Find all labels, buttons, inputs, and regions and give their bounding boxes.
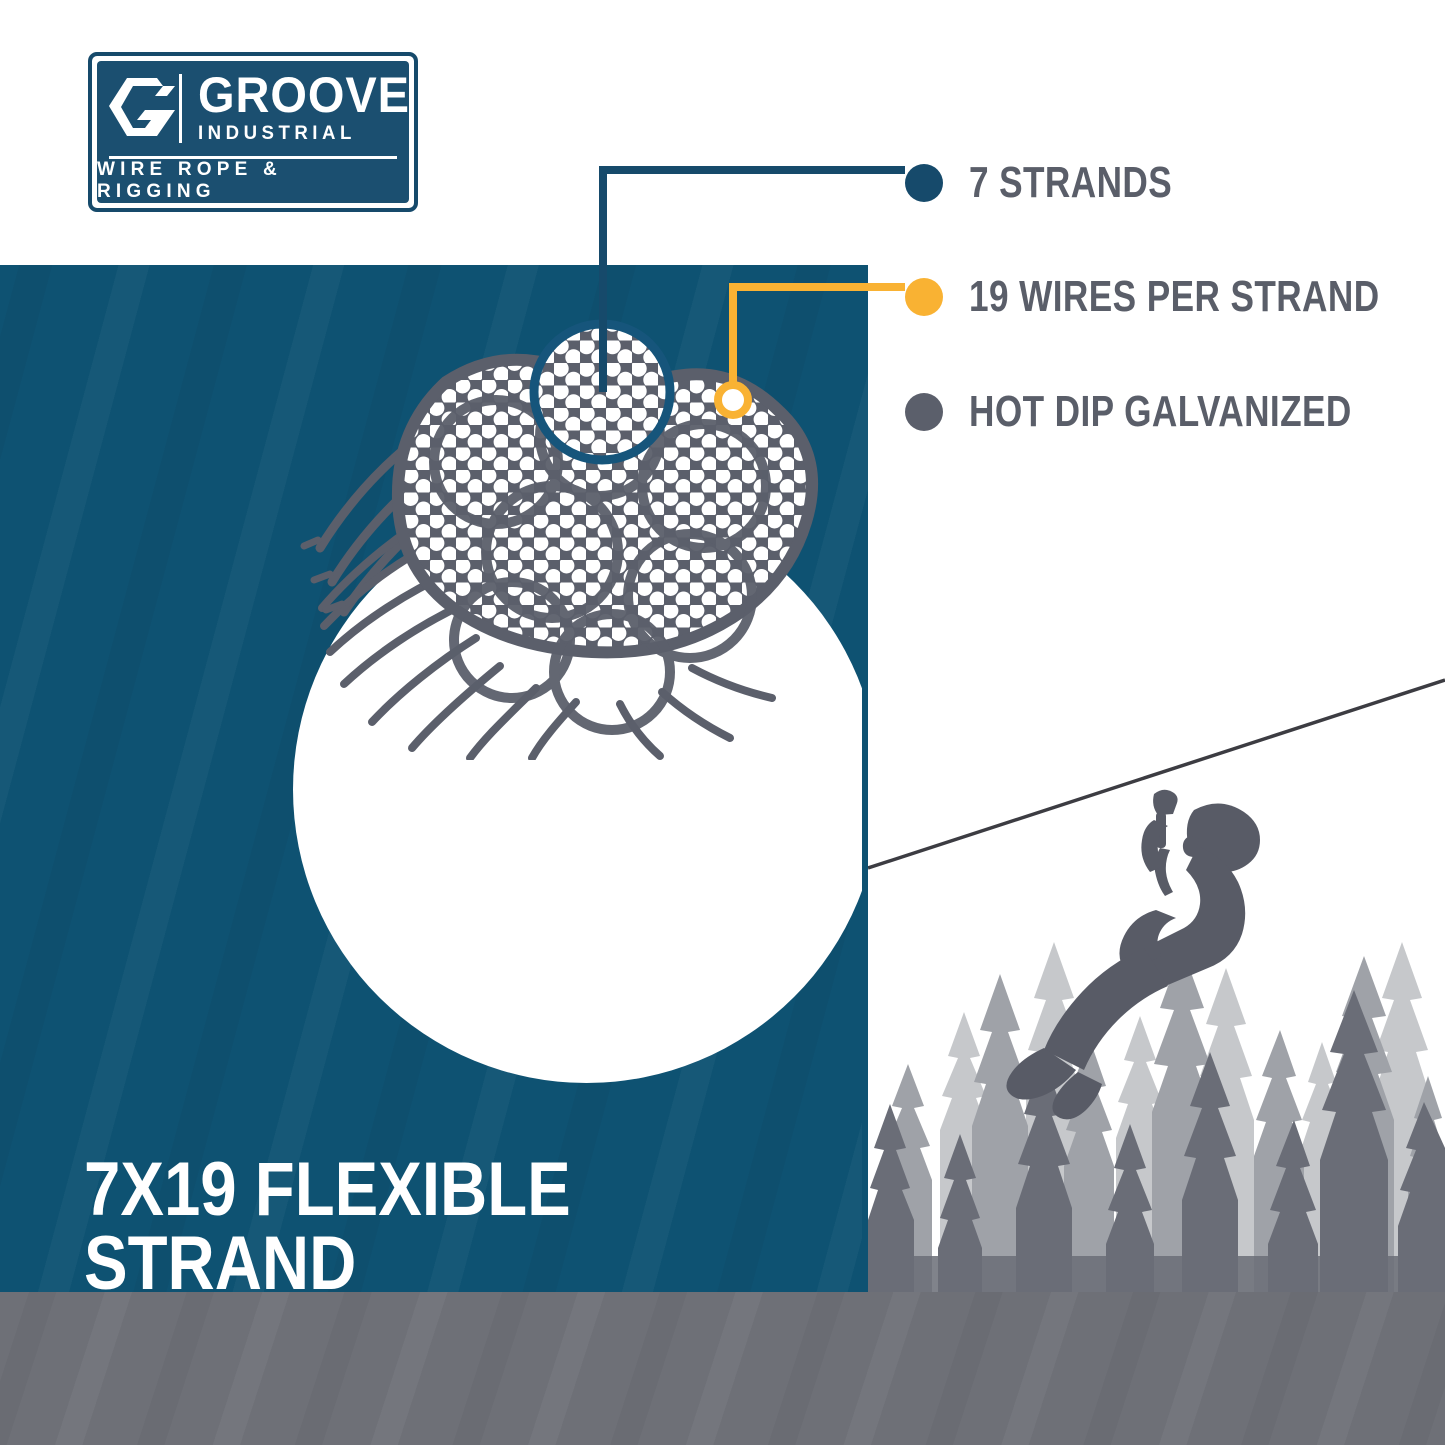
callout-label: HOT DIP GALVANIZED (969, 387, 1352, 437)
infographic-canvas: 7X19 FLEXIBLE STRAND CONSTRUCTION Our ai… (0, 0, 1445, 1445)
bullet-dot-icon (905, 393, 943, 431)
page-title: 7X19 FLEXIBLE STRAND CONSTRUCTION (84, 1153, 738, 1292)
callout-hot-dip-galvanized[interactable]: HOT DIP GALVANIZED (905, 387, 1445, 437)
headline-line-1: 7X19 FLEXIBLE (84, 1153, 738, 1227)
callout-19-wires-per-strand[interactable]: 19 WIRES PER STRAND (905, 272, 1445, 322)
callout-label: 19 WIRES PER STRAND (969, 272, 1380, 322)
zipline-photo (868, 660, 1445, 1292)
footer-bar (0, 1292, 1445, 1445)
logo-name: GROOVE (198, 72, 410, 118)
logo-wordmark: GROOVE INDUSTRIAL (192, 72, 431, 145)
callout-label: 7 STRANDS (969, 158, 1172, 208)
logo-tagline: WIRE ROPE & RIGGING (97, 159, 409, 203)
zipline-scene (868, 660, 1445, 1292)
brand-logo[interactable]: GROOVE INDUSTRIAL WIRE ROPE & RIGGING (88, 52, 418, 212)
magnifier-zoom-circle (528, 318, 676, 466)
bullet-dot-icon (905, 278, 943, 316)
logo-subtitle: INDUSTRIAL (198, 123, 419, 145)
callout-7-strands[interactable]: 7 STRANDS (905, 158, 1223, 208)
bullet-dot-icon (905, 164, 943, 202)
logo-inner-plate: GROOVE INDUSTRIAL WIRE ROPE & RIGGING (97, 61, 409, 203)
logo-top-row: GROOVE INDUSTRIAL (97, 61, 409, 156)
groove-g-icon (107, 74, 182, 142)
footer-texture (0, 1292, 1445, 1445)
headline-line-2: STRAND CONSTRUCTION (84, 1227, 738, 1292)
